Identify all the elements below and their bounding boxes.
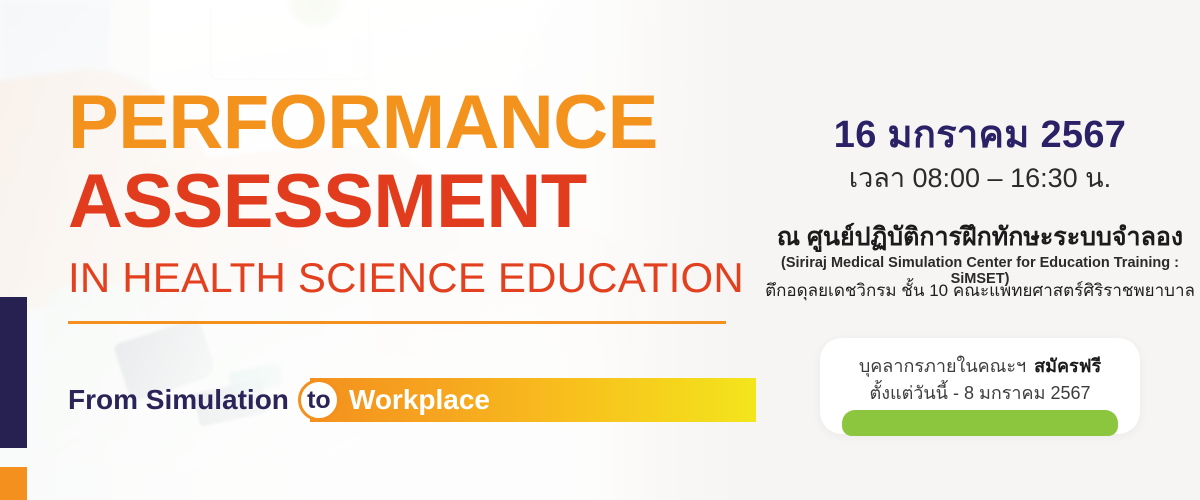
- edge-accent-navy-bar: [0, 297, 27, 448]
- registration-audience: บุคลากรภายในคณะฯ: [859, 356, 1026, 376]
- headline-divider-rule: [68, 321, 726, 324]
- event-banner: PERFORMANCE ASSESSMENT IN HEALTH SCIENCE…: [0, 0, 1200, 500]
- edge-accent-orange-bar: [0, 467, 27, 500]
- event-time: เวลา 08:00 – 16:30 น.: [760, 156, 1200, 199]
- tagline-workplace: Workplace: [349, 384, 490, 416]
- tagline-to-badge: to: [298, 379, 340, 421]
- tagline-block: From Simulation to Workplace: [50, 378, 756, 422]
- registration-free-label: สมัครฟรี: [1034, 356, 1101, 376]
- headline-line-performance: PERFORMANCE: [68, 88, 728, 158]
- registration-period: ตั้งแต่วันนี้ - 8 มกราคม 2567: [820, 378, 1140, 407]
- event-info-panel: 16 มกราคม 2567 เวลา 08:00 – 16:30 น. ณ ศ…: [760, 0, 1200, 500]
- headline-subtitle: IN HEALTH SCIENCE EDUCATION: [68, 257, 728, 299]
- registration-green-button[interactable]: [842, 410, 1118, 436]
- event-venue-address: ตึกอดุลยเดชวิกรม ชั้น 10 คณะแพทยศาสตร์ศิ…: [760, 277, 1200, 304]
- headline-line-assessment: ASSESSMENT: [68, 166, 728, 237]
- event-date: 16 มกราคม 2567: [760, 103, 1200, 164]
- event-venue-thai: ณ ศูนย์ปฏิบัติการฝึกทักษะระบบจำลอง: [760, 217, 1200, 257]
- headline-block: PERFORMANCE ASSESSMENT IN HEALTH SCIENCE…: [68, 88, 728, 324]
- registration-audience-row: บุคลากรภายในคณะฯสมัครฟรี: [820, 351, 1140, 380]
- tagline-from-simulation: From Simulation: [68, 384, 289, 416]
- registration-card[interactable]: บุคลากรภายในคณะฯสมัครฟรี ตั้งแต่วันนี้ -…: [820, 338, 1140, 434]
- tagline-text: From Simulation to Workplace: [68, 378, 490, 422]
